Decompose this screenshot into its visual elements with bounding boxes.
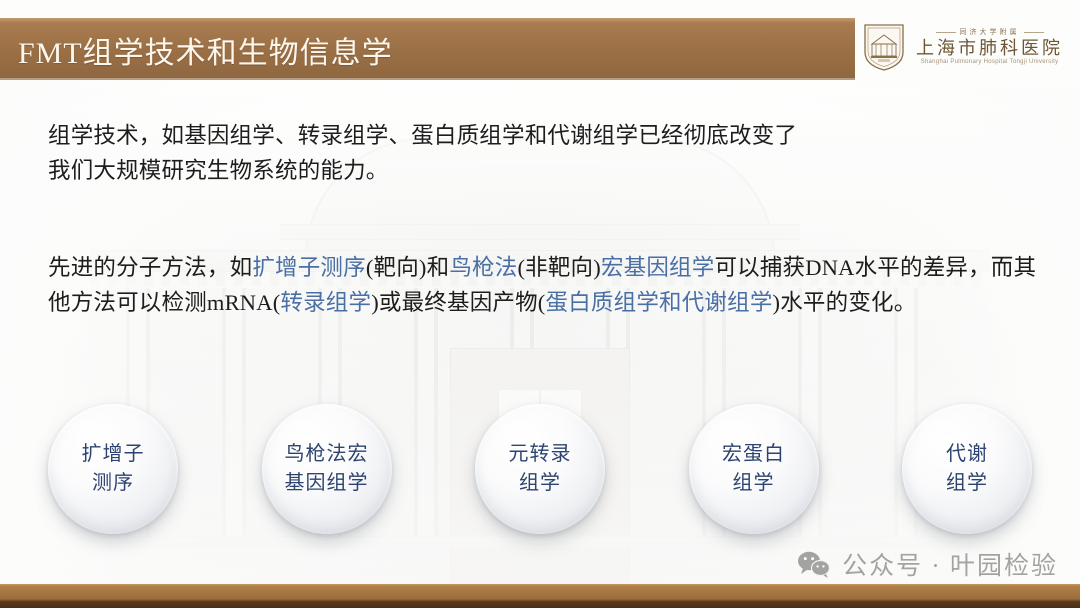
methods-seg-2: (靶向)和 [366,255,450,280]
badge-line2: 组学 [519,469,561,498]
badge-amplicon-sequencing[interactable]: 扩增子 测序 [48,404,178,534]
badge-line2: 基因组学 [285,469,369,498]
term-transcriptomics: 转录组学 [280,290,371,315]
logo-affiliation-text: 同济大学附属 [960,29,1020,36]
badge-line2: 测序 [92,469,134,498]
badge-shotgun-metagenomics[interactable]: 鸟枪法宏 基因组学 [262,404,392,534]
footer-watermark: 公众号 · 叶园检验 [797,546,1058,582]
term-amplicon-sequencing: 扩增子测序 [252,255,366,280]
badge-metaproteomics[interactable]: 宏蛋白 组学 [689,404,819,534]
term-metagenomics: 宏基因组学 [601,255,715,280]
badge-line1: 代谢 [946,440,988,469]
omics-badge-row: 扩增子 测序 鸟枪法宏 基因组学 元转录 组学 宏蛋白 组学 代谢 组学 [0,400,1080,538]
hospital-logo: 同济大学附属 上海市肺科医院 Shanghai Pulmonary Hospit… [862,22,1063,72]
badge-line1: 鸟枪法宏 [285,440,369,469]
footer-bar [0,584,1080,608]
methods-seg-5: )或最终基因产物( [371,290,545,315]
badge-line2: 组学 [733,469,775,498]
methods-seg-6: )水平的变化。 [773,290,917,315]
logo-hospital-name-cn: 上海市肺科医院 [916,39,1063,57]
badge-metatranscriptomics[interactable]: 元转录 组学 [475,404,605,534]
page-title: FMT组学技术和生物信息学 [18,28,393,72]
paragraph-intro: 组学技术，如基因组学、转录组学、蛋白质组学和代谢组学已经彻底改变了 我们大规模研… [48,118,1048,188]
paragraph-intro-line1: 组学技术，如基因组学、转录组学、蛋白质组学和代谢组学已经彻底改变了 [48,118,1048,153]
badge-line2: 组学 [946,469,988,498]
paragraph-methods: 先进的分子方法，如扩增子测序(靶向)和鸟枪法(非靶向)宏基因组学可以捕获DNA水… [48,250,1048,320]
hospital-crest-icon [862,22,906,72]
paragraph-intro-line2: 我们大规模研究生物系统的能力。 [48,153,1048,188]
methods-seg-3: (非靶向) [517,255,601,280]
term-shotgun: 鸟枪法 [449,255,517,280]
footer-account-name: 公众号 · 叶园检验 [842,546,1058,582]
badge-line1: 元转录 [509,440,572,469]
logo-affiliation: 同济大学附属 [936,29,1044,36]
methods-seg-1: 先进的分子方法，如 [48,255,252,280]
logo-hospital-name-en: Shanghai Pulmonary Hospital Tongji Unive… [921,59,1059,65]
slide-root: FMT组学技术和生物信息学 同济大学附属 上海市肺科医院 Shanghai Pu… [0,0,1080,608]
badge-line1: 宏蛋白 [722,440,785,469]
term-proteomics-metabolomics: 蛋白质组学和代谢组学 [546,290,773,315]
wechat-icon [797,550,831,578]
badge-metabolomics[interactable]: 代谢 组学 [902,404,1032,534]
badge-line1: 扩增子 [82,440,145,469]
